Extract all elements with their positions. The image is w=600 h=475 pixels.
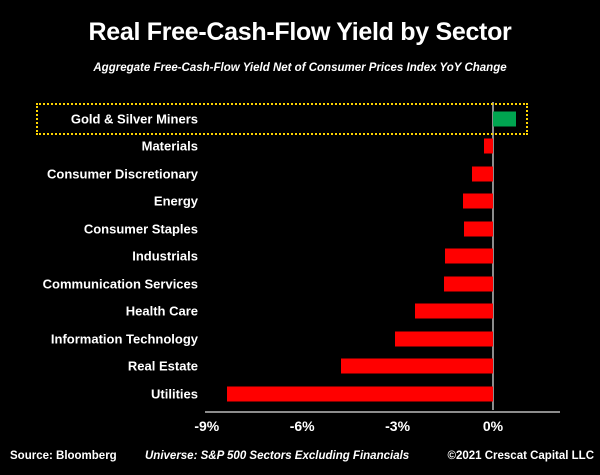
category-label: Real Estate: [128, 359, 198, 374]
bar-row: Real Estate: [0, 353, 600, 381]
bar-row: Industrials: [0, 243, 600, 271]
category-label: Consumer Staples: [84, 221, 198, 236]
plot-area: Gold & Silver MinersMaterialsConsumer Di…: [0, 100, 600, 412]
x-tick-label: -3%: [385, 418, 410, 434]
footer-universe: Universe: S&P 500 Sectors Excluding Fina…: [145, 450, 409, 462]
bar-row: Consumer Discretionary: [0, 160, 600, 188]
bar-row: Materials: [0, 133, 600, 161]
bar: [227, 386, 493, 401]
x-tick-label: -9%: [194, 418, 219, 434]
bar-row: Energy: [0, 188, 600, 216]
bar: [464, 221, 493, 236]
category-label: Consumer Discretionary: [47, 166, 198, 181]
category-label: Health Care: [126, 304, 198, 319]
bar: [415, 304, 493, 319]
footer-copyright: ©2021 Crescat Capital LLC: [447, 450, 594, 462]
chart-figure: Real Free-Cash-Flow Yield by Sector Aggr…: [0, 0, 600, 475]
bar: [472, 166, 493, 181]
x-tick-label: -6%: [290, 418, 315, 434]
bar: [341, 359, 493, 374]
bar: [445, 249, 493, 264]
bar-row: Information Technology: [0, 325, 600, 353]
bar: [463, 194, 493, 209]
category-label: Gold & Silver Miners: [71, 111, 198, 126]
bar-row: Communication Services: [0, 270, 600, 298]
bar-row: Consumer Staples: [0, 215, 600, 243]
category-label: Communication Services: [43, 276, 198, 291]
bar: [395, 331, 493, 346]
category-label: Energy: [154, 194, 198, 209]
x-axis-line: [205, 411, 560, 413]
bar-row: Gold & Silver Miners: [0, 105, 600, 133]
x-tick-label: 0%: [483, 418, 503, 434]
chart-subtitle: Aggregate Free-Cash-Flow Yield Net of Co…: [0, 62, 600, 74]
chart-title: Real Free-Cash-Flow Yield by Sector: [0, 18, 600, 47]
bar-row: Utilities: [0, 380, 600, 408]
category-label: Industrials: [132, 249, 198, 264]
bar: [493, 111, 516, 126]
bar-row: Health Care: [0, 298, 600, 326]
category-label: Utilities: [151, 386, 198, 401]
category-label: Materials: [142, 139, 198, 154]
footer: Source: Bloomberg Universe: S&P 500 Sect…: [0, 450, 600, 472]
bar: [484, 139, 493, 154]
category-label: Information Technology: [51, 331, 198, 346]
bar: [444, 276, 493, 291]
footer-source: Source: Bloomberg: [10, 450, 117, 462]
